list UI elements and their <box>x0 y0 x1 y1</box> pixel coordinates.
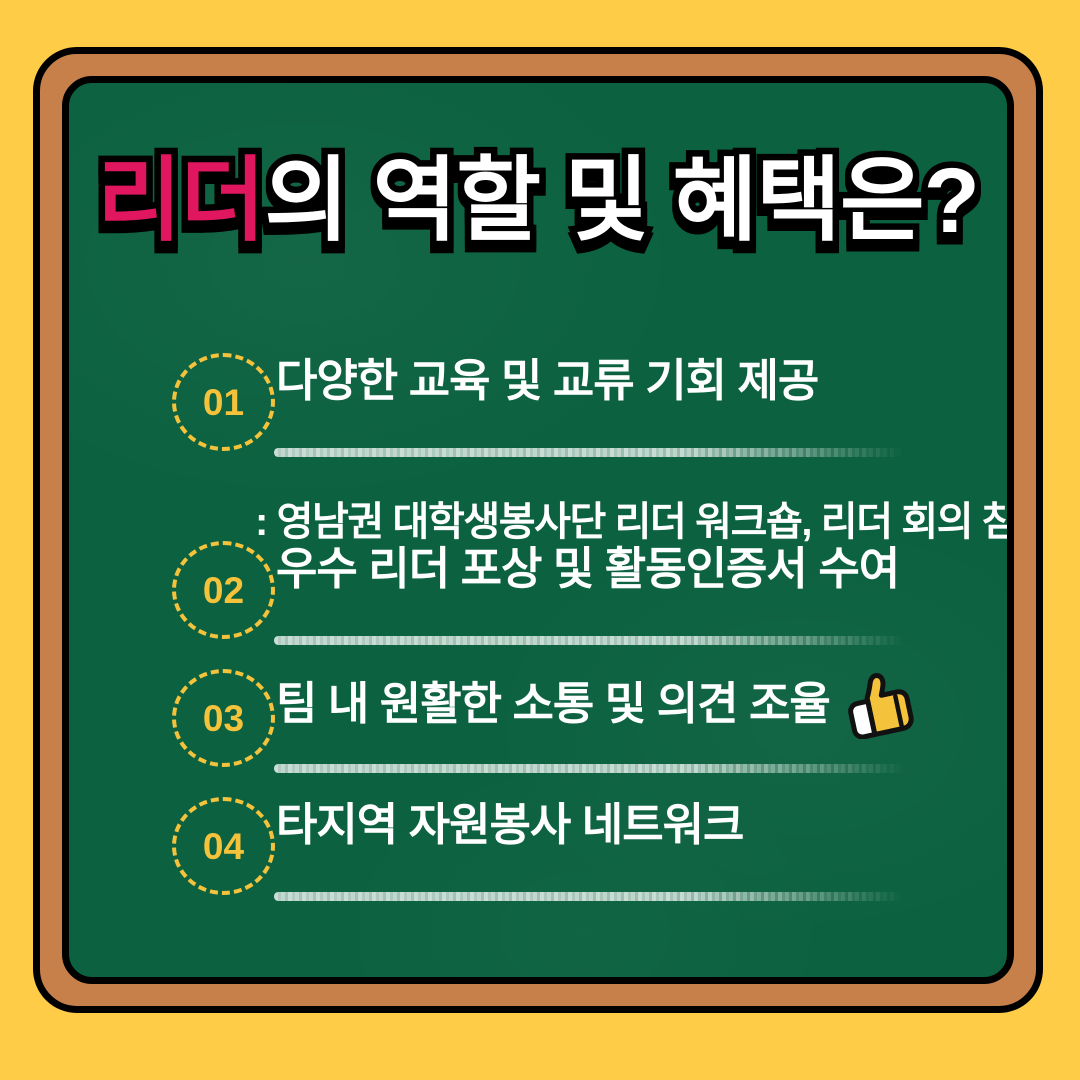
item-number-badge: 03 <box>172 669 275 767</box>
chalkboard-frame: 리더의 역할 및 혜택은? 리더의 역할 및 혜택은? 01 다양한 교육 및 … <box>33 47 1043 1013</box>
item-title-text: 타지역 자원봉사 네트워크 <box>276 799 743 851</box>
page-title: 리더의 역할 및 혜택은? <box>69 155 1007 247</box>
item-title: 우수 리더 포상 및 활동인증서 수여 <box>276 543 899 595</box>
item-title: 팀 내 원활한 소통 및 의견 조율 <box>276 671 916 737</box>
chalk-underline <box>274 636 904 645</box>
item-number-badge: 02 <box>172 541 275 639</box>
title-accent: 리더 <box>97 150 264 252</box>
item-title: 타지역 자원봉사 네트워크 <box>276 799 743 851</box>
list-item: 02 우수 리더 포상 및 활동인증서 수여 <box>69 529 1007 657</box>
thumbs-up-icon <box>842 673 916 739</box>
chalkboard-surface: 리더의 역할 및 혜택은? 리더의 역할 및 혜택은? 01 다양한 교육 및 … <box>62 76 1014 984</box>
list-item: 03 팀 내 원활한 소통 및 의견 조율 <box>69 657 1007 785</box>
poster-canvas: 리더의 역할 및 혜택은? 리더의 역할 및 혜택은? 01 다양한 교육 및 … <box>0 0 1080 1080</box>
item-title-text: 팀 내 원활한 소통 및 의견 조율 <box>276 678 830 730</box>
item-number-badge: 01 <box>172 353 275 451</box>
chalk-underline <box>274 764 904 773</box>
benefit-list: 01 다양한 교육 및 교류 기회 제공 : 영남권 대학생봉사단 리더 워크숍… <box>69 341 1007 913</box>
item-title: 다양한 교육 및 교류 기회 제공 <box>276 355 818 407</box>
item-number: 04 <box>203 828 244 865</box>
item-number-badge: 04 <box>172 797 275 895</box>
item-number: 02 <box>203 572 244 609</box>
list-item: 04 타지역 자원봉사 네트워크 <box>69 785 1007 913</box>
chalk-underline <box>274 448 904 457</box>
item-number: 01 <box>203 384 244 421</box>
item-title-text: 우수 리더 포상 및 활동인증서 수여 <box>276 543 899 595</box>
title-rest: 의 역할 및 혜택은? <box>264 150 978 252</box>
item-title-text: 다양한 교육 및 교류 기회 제공 <box>276 355 818 407</box>
chalk-underline <box>274 892 904 901</box>
list-item: 01 다양한 교육 및 교류 기회 제공 : 영남권 대학생봉사단 리더 워크숍… <box>69 341 1007 529</box>
item-number: 03 <box>203 700 244 737</box>
